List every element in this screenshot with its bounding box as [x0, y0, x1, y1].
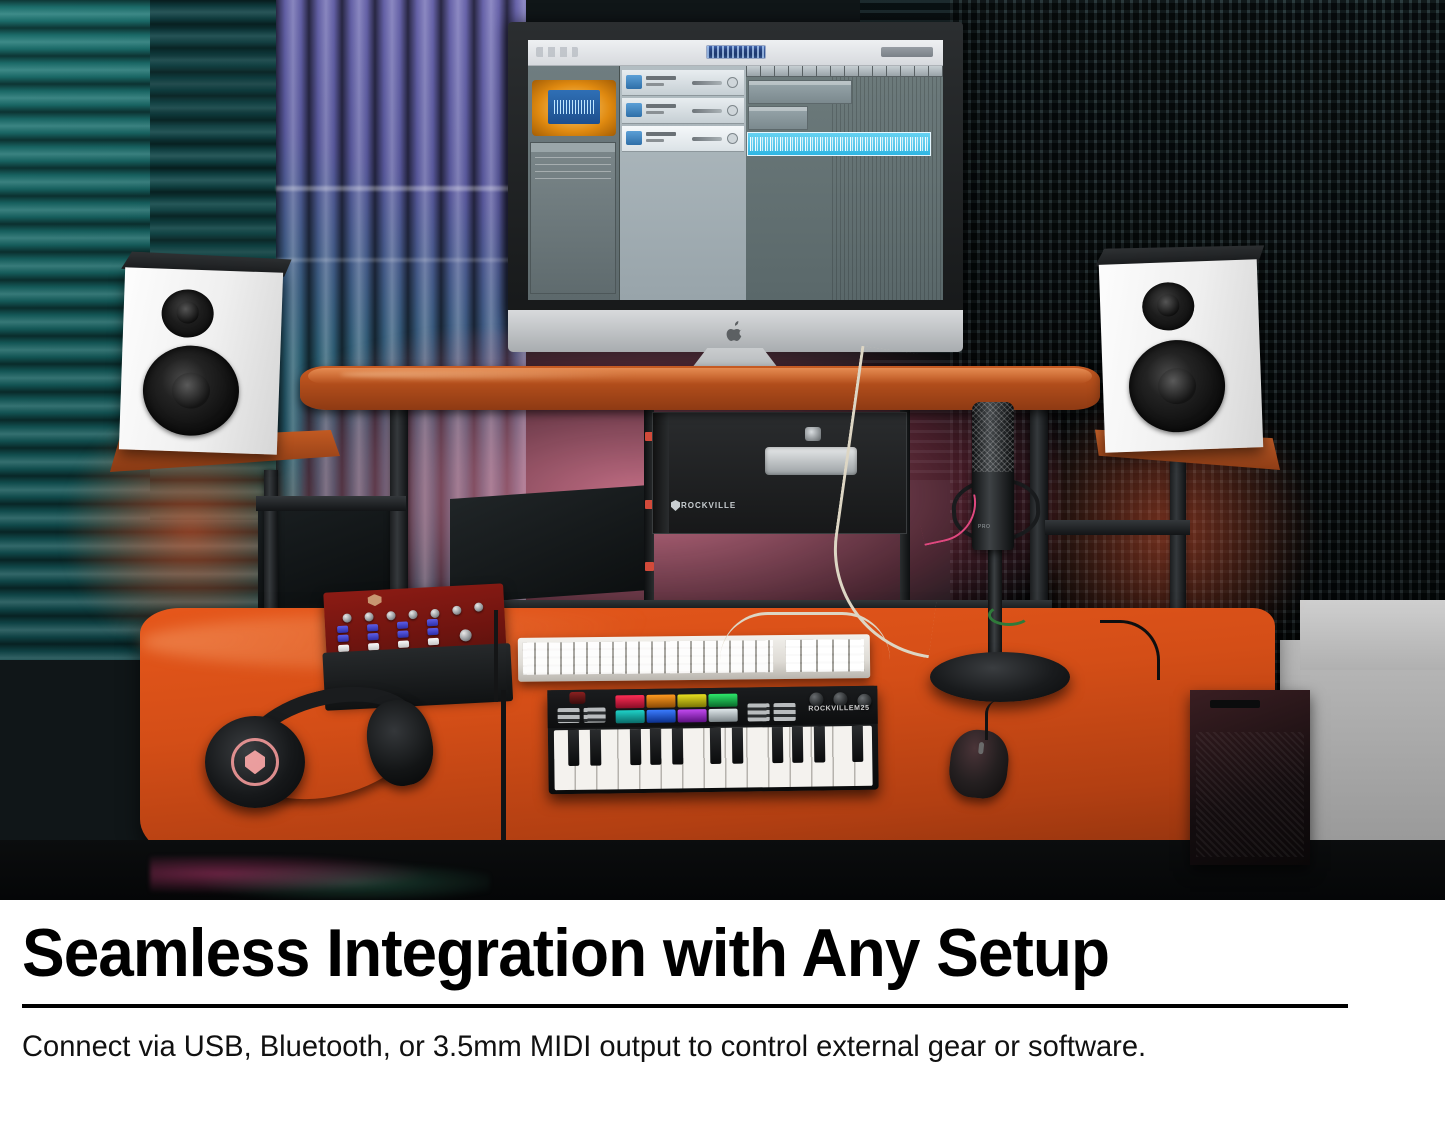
daw-track-header-3: [622, 126, 744, 152]
cable-black-mixer: [484, 610, 498, 702]
mixer-channel-2[interactable]: [367, 624, 380, 625]
mic-stand-base: [930, 652, 1070, 702]
daw-region-title-bar: [749, 81, 851, 85]
rack-screw: [645, 562, 654, 571]
midi-pad-7[interactable]: [678, 709, 707, 722]
mixer-slider[interactable]: [427, 619, 438, 627]
caption-block: Seamless Integration with Any Setup Conn…: [0, 900, 1445, 1136]
headphone-earcup-left: [205, 716, 305, 808]
midi-black-key[interactable]: [590, 730, 602, 766]
daw-track-header-2: [622, 98, 744, 124]
track-name-3: [646, 132, 676, 136]
midi-pad-5[interactable]: [616, 710, 645, 723]
midi-black-key[interactable]: [568, 730, 580, 766]
mixer-knob[interactable]: [364, 612, 373, 621]
track-name-2: [646, 104, 676, 108]
track-fader-3: [692, 137, 722, 141]
caption-heading: Seamless Integration with Any Setup: [22, 914, 1109, 992]
daw-region-title-bar: [749, 107, 807, 111]
midi-black-key[interactable]: [630, 729, 642, 765]
daw-library-rows: [535, 157, 611, 185]
amp-grille: [1196, 732, 1304, 857]
daw-region-2: [748, 106, 808, 130]
daw-artwork-thumbnail: [532, 80, 616, 136]
rack-brand-label: ROCKVILLE: [681, 501, 736, 510]
midi-pad-8[interactable]: [709, 709, 738, 722]
mixer-channel-4[interactable]: [427, 619, 440, 620]
midi-keyboard-controller[interactable]: ROCKVILLEM25: [547, 686, 878, 795]
midi-black-key[interactable]: [672, 728, 684, 764]
cable-black-headphone: [470, 690, 506, 860]
midi-black-key[interactable]: [852, 726, 864, 762]
daw-track-header-1: [622, 70, 744, 96]
mixer-brand-icon: [367, 594, 382, 607]
studio-monitor-right: [1099, 259, 1263, 452]
cable-beige-loop: [720, 612, 890, 660]
headphone-brand-logo-icon: [231, 738, 279, 786]
midi-pad-3[interactable]: [677, 694, 706, 707]
mixer-slider[interactable]: [397, 630, 408, 638]
track-sub-2: [646, 111, 664, 114]
imac-display: [508, 22, 963, 317]
riser-highlight: [340, 370, 640, 379]
midi-function-buttons[interactable]: [773, 703, 795, 721]
mixer-slider[interactable]: [427, 628, 438, 636]
daw-artwork-inner: [548, 90, 600, 124]
midi-key-bed[interactable]: [554, 726, 873, 790]
mixer-slider[interactable]: [337, 626, 348, 634]
microphone-badge-label: PRO: [978, 524, 990, 530]
daw-media-browser: [528, 66, 620, 300]
track-sub-1: [646, 83, 664, 86]
mixer-channel-3[interactable]: [397, 621, 410, 622]
midi-pad-2[interactable]: [646, 695, 675, 708]
track-fader-2: [692, 109, 722, 113]
foam-seam: [276, 186, 526, 191]
midi-transport-buttons[interactable]: [584, 707, 606, 722]
mixer-master-knob[interactable]: [459, 629, 472, 642]
midi-transport-buttons[interactable]: [558, 708, 580, 723]
midi-brand-label: ROCKVILLEM25: [808, 705, 869, 713]
microphone-grille: [972, 402, 1014, 472]
daw-track-headers: [620, 66, 746, 300]
midi-model-label: M25: [854, 705, 870, 712]
imac-chin: [508, 310, 963, 352]
mixer-knob[interactable]: [452, 606, 461, 615]
waveform-icon: [554, 100, 594, 114]
midi-pad-6[interactable]: [647, 710, 676, 723]
studio-setup-photo: ROCKVILLE: [0, 0, 1445, 900]
daw-grid-hatch-1: [832, 77, 943, 300]
cable-tie-green: [988, 604, 1030, 626]
track-pan-knob-1: [727, 77, 738, 88]
mixer-slider[interactable]: [367, 633, 378, 641]
mixer-knob[interactable]: [386, 611, 395, 620]
studio-monitor-left: [119, 267, 283, 454]
rack-lock-icon[interactable]: [805, 427, 821, 441]
midi-black-key[interactable]: [650, 729, 662, 765]
amp-handle: [1210, 700, 1260, 708]
mixer-channel-1[interactable]: [337, 625, 350, 626]
audio-mixer[interactable]: [323, 583, 509, 702]
apple-logo-icon: [726, 321, 746, 343]
midi-pad-1[interactable]: [615, 695, 644, 708]
midi-black-key[interactable]: [772, 727, 784, 763]
stand-arm-left: [256, 496, 406, 511]
track-type-icon: [626, 103, 642, 117]
daw-arrange-area: [746, 66, 943, 300]
track-sub-3: [646, 139, 664, 142]
mixer-knob[interactable]: [430, 609, 439, 618]
mixer-slider[interactable]: [367, 624, 378, 632]
mixer-slider[interactable]: [428, 638, 439, 646]
amplifier-cabinet-right: [1190, 690, 1310, 865]
daw-library-list: [530, 142, 616, 294]
midi-black-key[interactable]: [792, 727, 804, 763]
daw-screen: [528, 40, 943, 300]
back-wall-grey-upper: [1300, 600, 1445, 670]
audio-waveform: [750, 137, 928, 151]
mixer-slider[interactable]: [337, 635, 348, 643]
daw-transport-readout: [707, 46, 765, 58]
track-pan-knob-2: [727, 105, 738, 116]
daw-toolbar-buttons-right: [881, 47, 933, 57]
rockville-shield-icon: [671, 500, 680, 511]
midi-black-key[interactable]: [710, 728, 722, 764]
mixer-knob[interactable]: [342, 613, 351, 622]
microphone-body: [972, 466, 1014, 550]
mixer-slider[interactable]: [398, 640, 409, 648]
daw-audio-region-selected: [747, 132, 931, 156]
daw-library-header: [531, 143, 615, 152]
rack-mount-ear: [653, 413, 669, 533]
daw-transport-display: [706, 45, 766, 59]
mixer-knob[interactable]: [474, 602, 483, 611]
midi-pitch-wheel[interactable]: [569, 692, 585, 704]
daw-region-1: [748, 80, 852, 104]
cable-mouse: [985, 700, 1009, 740]
caption-divider: [22, 1004, 1348, 1008]
track-fader-1: [692, 81, 722, 85]
daw-toolbar-buttons: [536, 47, 578, 57]
stand-arm-right: [1045, 520, 1190, 535]
midi-black-key[interactable]: [814, 726, 826, 762]
mixer-knob[interactable]: [408, 610, 417, 619]
daw-ruler-ticks: [746, 66, 943, 76]
mixer-slider[interactable]: [397, 621, 408, 629]
midi-function-buttons[interactable]: [747, 703, 769, 721]
floor-cables: [150, 856, 490, 900]
track-pan-knob-3: [727, 133, 738, 144]
midi-black-key[interactable]: [732, 728, 744, 764]
track-type-icon: [626, 75, 642, 89]
mouse-scroll-wheel[interactable]: [978, 742, 984, 754]
daw-toolbar: [528, 40, 943, 66]
track-name-1: [646, 76, 676, 80]
track-type-icon: [626, 131, 642, 145]
caption-body: Connect via USB, Bluetooth, or 3.5mm MID…: [22, 1024, 1273, 1069]
foam-seam: [276, 258, 526, 262]
daw-timeline-ruler: [746, 66, 943, 77]
midi-pad-4[interactable]: [708, 694, 737, 707]
